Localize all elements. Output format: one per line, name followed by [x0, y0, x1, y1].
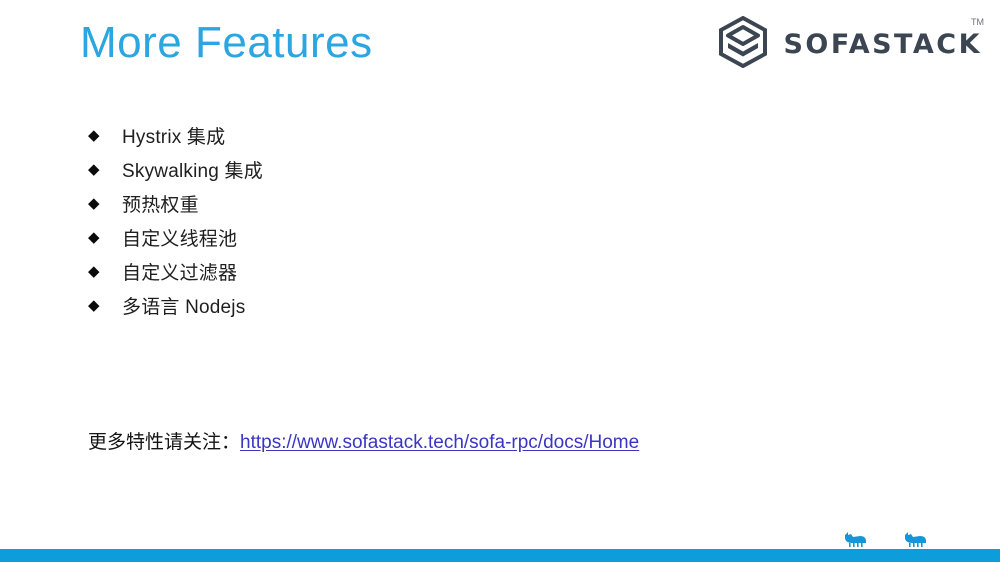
list-item-label: 自定义线程池 — [122, 224, 237, 251]
footer-link-line: 更多特性请关注：https://www.sofastack.tech/sofa-… — [88, 427, 639, 454]
feature-list: ◆ Hystrix 集成 ◆ Skywalking 集成 ◆ 预热权重 ◆ 自定… — [88, 118, 263, 322]
page-title: More Features — [80, 18, 373, 69]
list-item-label: Skywalking 集成 — [122, 156, 263, 183]
logo-wordmark-group: SOFASTACK TM — [783, 27, 982, 58]
sofastack-logo: SOFASTACK TM — [717, 16, 982, 68]
list-item: ◆ Skywalking 集成 — [88, 152, 263, 186]
list-item: ◆ 预热权重 — [88, 186, 263, 220]
logo-wordmark: SOFASTACK — [783, 29, 982, 60]
diamond-bullet-icon: ◆ — [88, 230, 122, 245]
list-item-label: 自定义过滤器 — [122, 258, 237, 285]
diamond-bullet-icon: ◆ — [88, 298, 122, 313]
ant-icon — [842, 529, 868, 549]
footer-label: 更多特性请关注： — [88, 432, 240, 453]
list-item-label: 多语言 Nodejs — [122, 292, 245, 319]
list-item-label: 预热权重 — [122, 190, 199, 217]
list-item: ◆ Hystrix 集成 — [88, 118, 263, 152]
ant-icon — [902, 529, 928, 549]
list-item-label: Hystrix 集成 — [122, 122, 225, 149]
diamond-bullet-icon: ◆ — [88, 128, 122, 143]
bottom-accent-bar — [0, 549, 1000, 562]
list-item: ◆ 自定义线程池 — [88, 220, 263, 254]
ant-mascot-group — [842, 529, 928, 549]
list-item: ◆ 自定义过滤器 — [88, 254, 263, 288]
sofastack-stacked-hexagon-logo-icon — [717, 16, 769, 68]
diamond-bullet-icon: ◆ — [88, 162, 122, 177]
trademark-symbol: TM — [971, 17, 984, 27]
docs-home-link[interactable]: https://www.sofastack.tech/sofa-rpc/docs… — [240, 432, 639, 453]
diamond-bullet-icon: ◆ — [88, 196, 122, 211]
list-item: ◆ 多语言 Nodejs — [88, 288, 263, 322]
slide-more-features: More Features SOFASTACK TM ◆ Hystrix 集成 … — [0, 0, 1000, 562]
diamond-bullet-icon: ◆ — [88, 264, 122, 279]
